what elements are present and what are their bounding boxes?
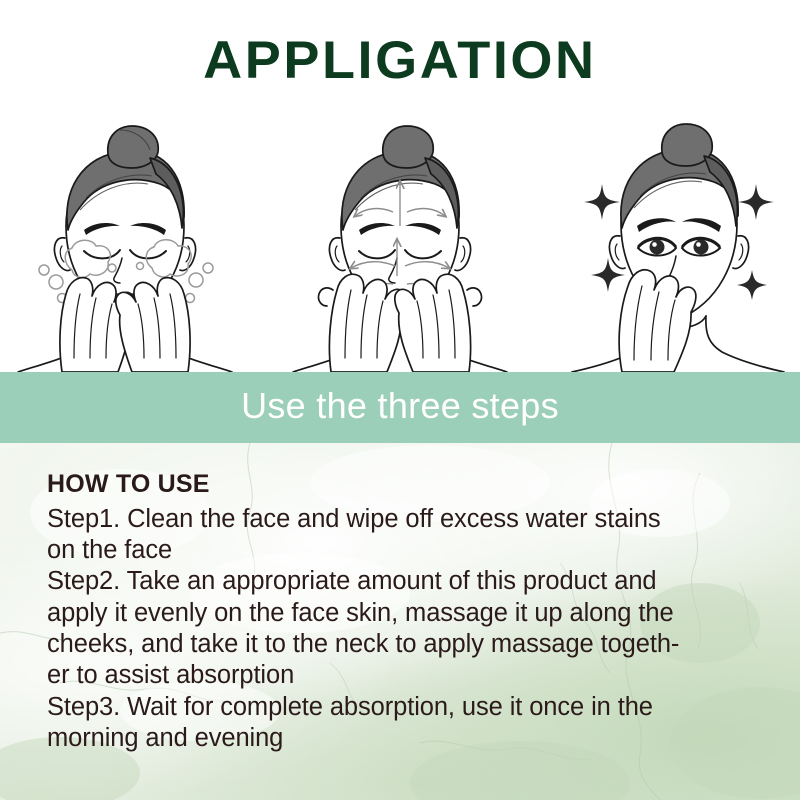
how-to-use-heading: HOW TO USE — [47, 471, 759, 499]
instructions-text-block: HOW TO USE Step1. Clean the face and wip… — [47, 471, 759, 754]
step-3-text: Step3. Wait for complete absorption, use… — [47, 692, 759, 755]
illustration-strip — [0, 118, 800, 372]
step-2-text: Step2. Take an appropriate amount of thi… — [47, 566, 759, 691]
product-instruction-graphic: APPLIGATION — [0, 0, 800, 800]
instructions-section: HOW TO USE Step1. Clean the face and wip… — [0, 443, 800, 800]
step-1-text: Step1. Clean the face and wipe off exces… — [47, 504, 759, 567]
illustration-radiant-skin-result — [550, 118, 800, 372]
illustration-massage-face-with-arrows — [275, 118, 525, 372]
illustration-cleanse-face-with-foam — [0, 118, 250, 372]
title-area: APPLIGATION — [0, 0, 800, 120]
banner-title: Use the three steps — [241, 388, 559, 427]
section-banner: Use the three steps — [0, 372, 800, 443]
page-title: APPLIGATION — [203, 34, 596, 87]
